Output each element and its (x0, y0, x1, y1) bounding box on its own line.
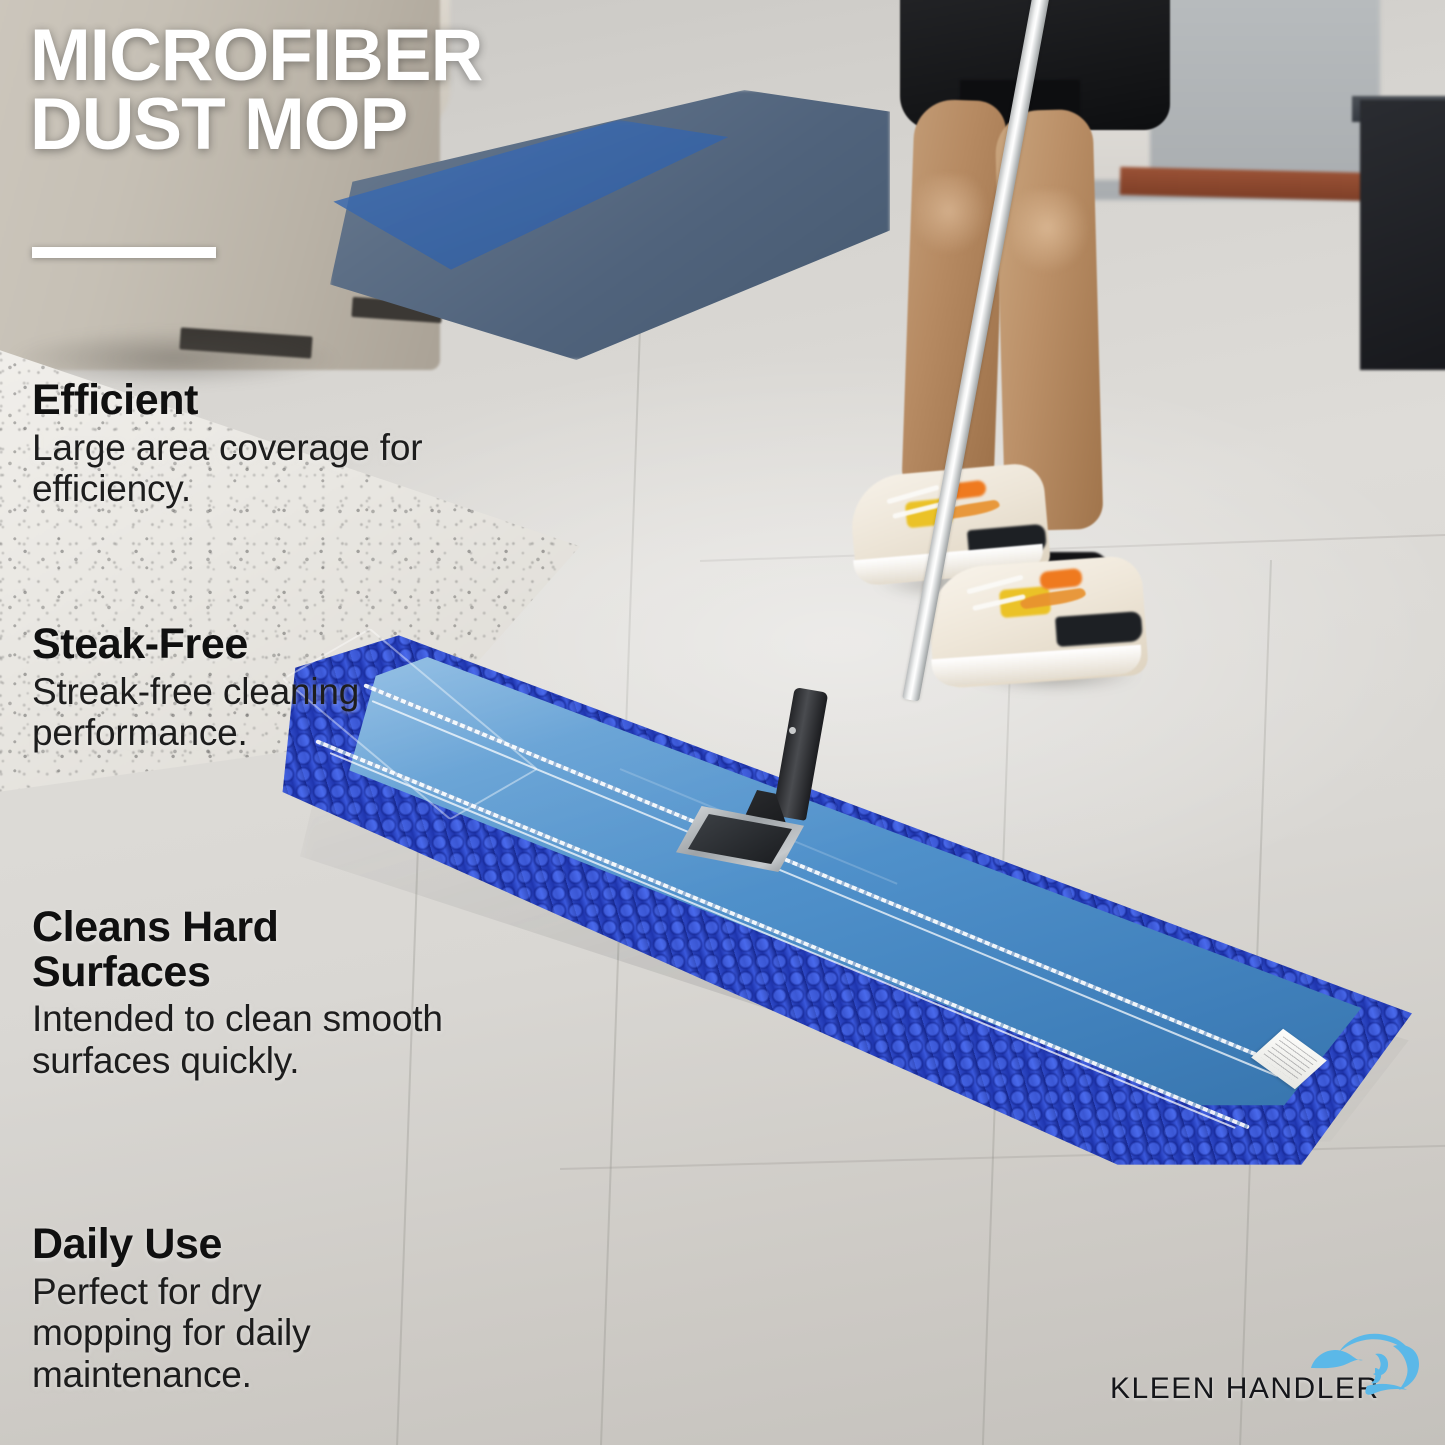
feature-heading: Steak-Free (32, 622, 362, 667)
feature-heading: Cleans Hard Surfaces (32, 905, 452, 994)
page-title-line-2: DUST MOP (30, 91, 730, 160)
feature-body: Large area coverage for efficiency. (32, 427, 482, 510)
feature-heading: Daily Use (32, 1222, 402, 1267)
title-underline-rule (32, 247, 216, 258)
feature-block-streak-free: Steak-Free Streak-free cleaning performa… (32, 622, 362, 754)
kleen-handler-swoosh-icon (1305, 1328, 1423, 1406)
feature-block-daily-use: Daily Use Perfect for dry mopping for da… (32, 1222, 402, 1395)
page-title-line-1: MICROFIBER (30, 22, 730, 91)
feature-block-efficient: Efficient Large area coverage for effici… (32, 378, 482, 510)
page-title: MICROFIBER DUST MOP (30, 22, 730, 159)
feature-heading: Efficient (32, 378, 482, 423)
feature-body: Intended to clean smooth surfaces quickl… (32, 998, 452, 1081)
feature-body: Streak-free cleaning performance. (32, 671, 362, 754)
feature-body: Perfect for dry mopping for daily mainte… (32, 1271, 402, 1395)
brand-logo: KLEEN HANDLER (1110, 1330, 1420, 1430)
text-overlay: MICROFIBER DUST MOP Efficient Large area… (0, 0, 1445, 1445)
feature-block-cleans-hard-surfaces: Cleans Hard Surfaces Intended to clean s… (32, 905, 452, 1081)
